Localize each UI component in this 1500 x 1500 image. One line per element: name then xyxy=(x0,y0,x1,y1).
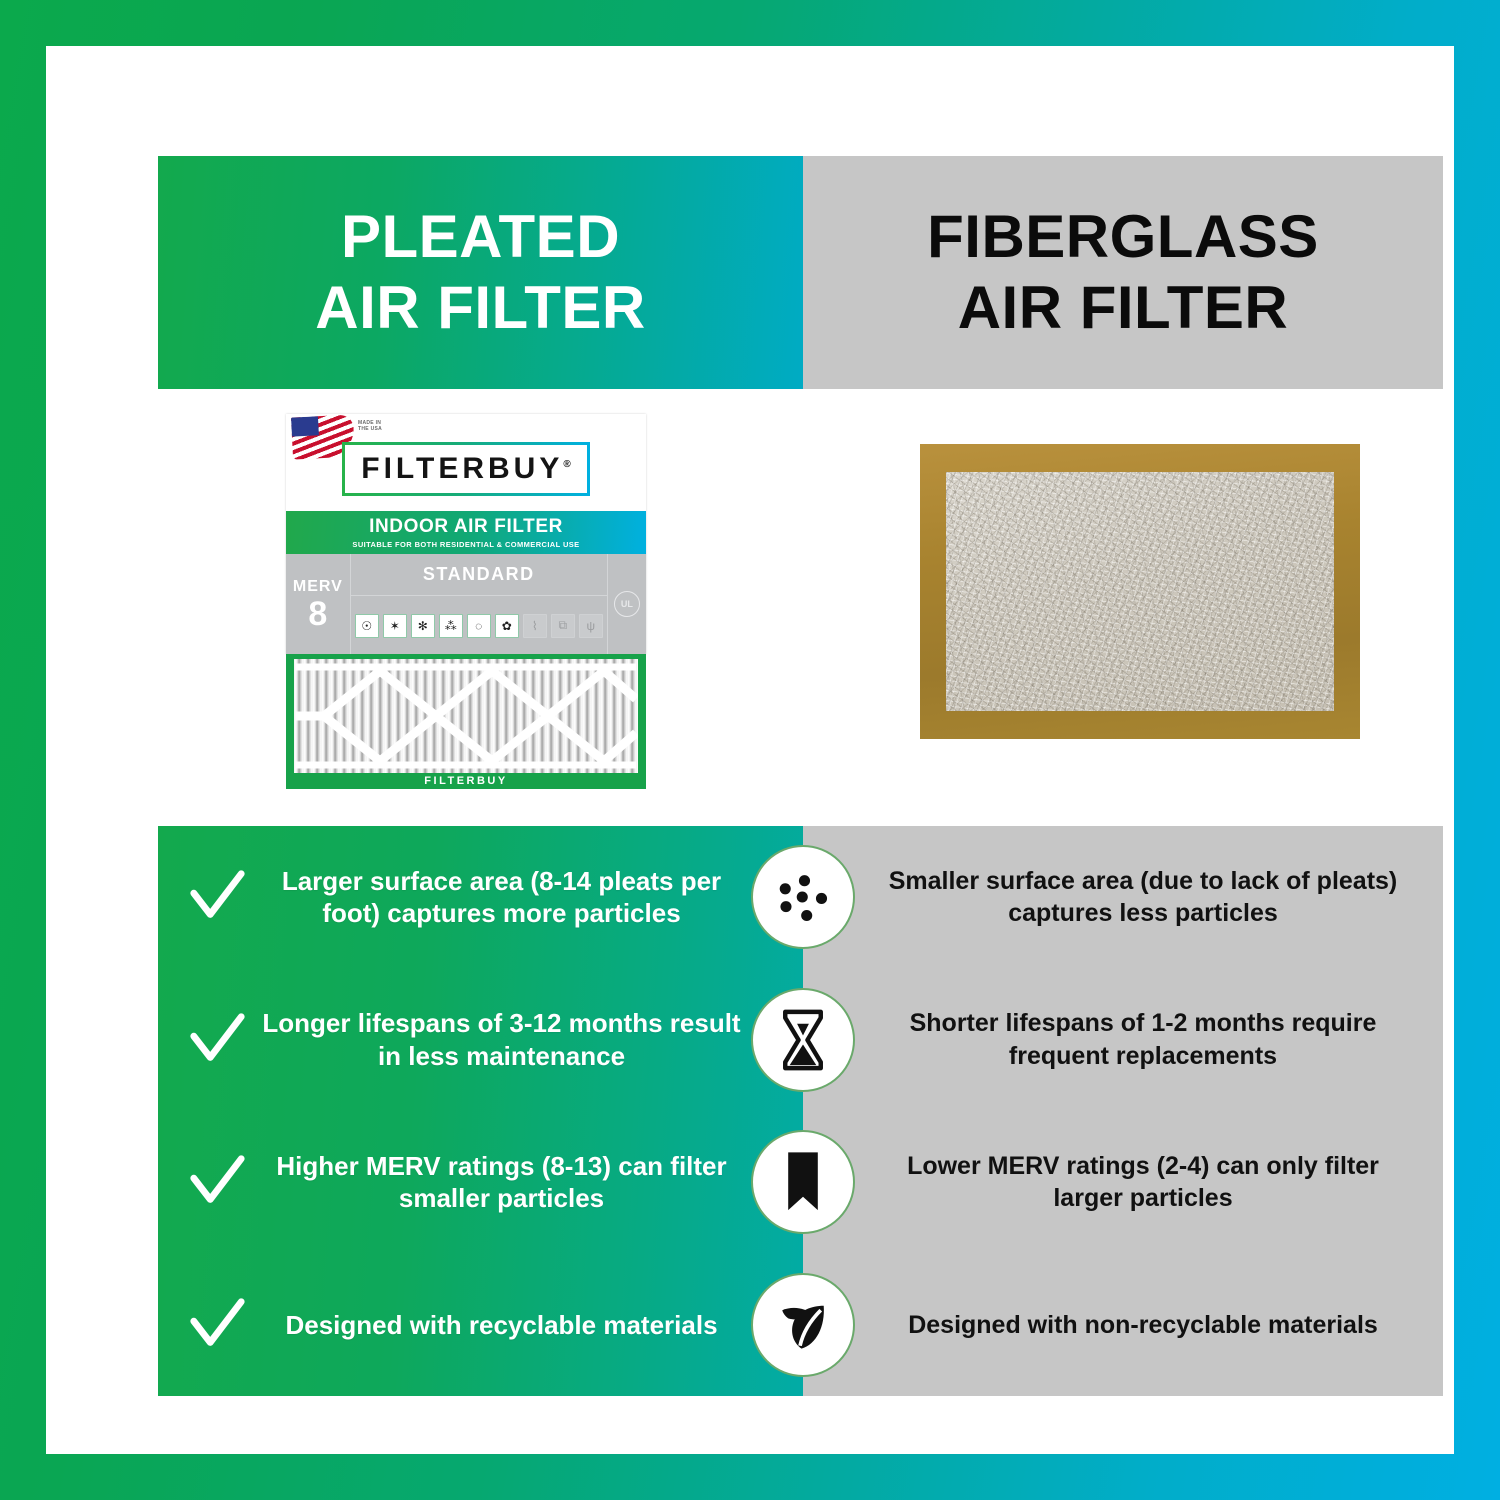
product-images-row: MADE IN THE USA FILTERBUY® INDOOR AIR FI… xyxy=(158,389,1443,826)
mold-icon: ⁂ xyxy=(439,614,463,638)
feature-right-text: Designed with non-recyclable materials xyxy=(803,1309,1443,1342)
pleat-fabric xyxy=(294,659,638,773)
feature-left-text: Longer lifespans of 3-12 months result i… xyxy=(260,1007,743,1072)
box-spec-band: MERV 8 STANDARD ☉✶✻⁂◌✿⌇⧉ψ UL xyxy=(286,554,646,654)
brand-trademark: ® xyxy=(563,459,570,470)
feature-left-text: Larger surface area (8-14 pleats per foo… xyxy=(260,865,743,930)
brand-logo-frame: FILTERBUY® xyxy=(342,442,589,496)
ul-listed-icon: UL xyxy=(614,591,640,617)
dust-icon: ◌ xyxy=(467,614,491,638)
feature-right-text: Lower MERV ratings (2-4) can only filter… xyxy=(803,1150,1443,1215)
feature-badge xyxy=(751,988,855,1092)
fiberglass-mesh-texture xyxy=(946,472,1334,711)
feature-left-cell: Larger surface area (8-14 pleats per foo… xyxy=(158,865,803,930)
bacteria-icon: ⧉ xyxy=(551,614,575,638)
feature-rows: Larger surface area (8-14 pleats per foo… xyxy=(158,826,1443,1396)
capability-icon-row: ☉✶✻⁂◌✿⌇⧉ψ xyxy=(351,596,607,654)
feature-comparison-block: Larger surface area (8-14 pleats per foo… xyxy=(158,826,1443,1396)
box-band-title: INDOOR AIR FILTER xyxy=(369,516,563,538)
poster-inner-canvas: PLEATED AIR FILTER FIBERGLASS AIR FILTER… xyxy=(46,46,1454,1454)
hourglass-icon xyxy=(766,1003,840,1077)
comparison-poster: PLEATED AIR FILTER FIBERGLASS AIR FILTER… xyxy=(0,0,1500,1500)
merv-rating-cell: MERV 8 xyxy=(286,554,351,654)
grade-cell: STANDARD ☉✶✻⁂◌✿⌇⧉ψ xyxy=(351,554,607,654)
dust-mites-icon: ✶ xyxy=(383,614,407,638)
pleated-filter-image: MADE IN THE USA FILTERBUY® INDOOR AIR FI… xyxy=(286,414,646,789)
header-panel-pleated: PLEATED AIR FILTER xyxy=(158,156,803,389)
feature-right-text: Smaller surface area (due to lack of ple… xyxy=(803,865,1443,930)
feature-row: Higher MERV ratings (8-13) can filter sm… xyxy=(158,1111,1443,1254)
feature-row: Designed with recyclable materialsDesign… xyxy=(158,1254,1443,1397)
feature-badge xyxy=(751,1273,855,1377)
feature-left-cell: Designed with recyclable materials xyxy=(158,1294,803,1356)
box-header: MADE IN THE USA FILTERBUY® xyxy=(286,414,646,511)
certification-cell: UL xyxy=(607,554,646,654)
merv-label: MERV xyxy=(293,578,343,596)
media-brand-label: FILTERBUY xyxy=(286,775,646,787)
pleated-media-section: FILTERBUY xyxy=(286,654,646,789)
leaf-icon xyxy=(766,1288,840,1362)
fiberglass-filter-image xyxy=(920,444,1360,739)
filter-box-card: MADE IN THE USA FILTERBUY® INDOOR AIR FI… xyxy=(286,414,646,654)
feature-left-cell: Higher MERV ratings (8-13) can filter sm… xyxy=(158,1150,803,1215)
bookmark-icon xyxy=(766,1145,840,1219)
box-band-subtitle: SUITABLE FOR BOTH RESIDENTIAL & COMMERCI… xyxy=(352,540,579,549)
made-in-usa-label: MADE IN THE USA xyxy=(358,420,382,433)
feature-row: Larger surface area (8-14 pleats per foo… xyxy=(158,826,1443,969)
pollen-icon: ✻ xyxy=(411,614,435,638)
feature-left-cell: Longer lifespans of 3-12 months result i… xyxy=(158,1007,803,1072)
header-band: PLEATED AIR FILTER FIBERGLASS AIR FILTER xyxy=(158,156,1443,389)
feature-left-text: Designed with recyclable materials xyxy=(260,1309,743,1342)
box-product-band: INDOOR AIR FILTER SUITABLE FOR BOTH RESI… xyxy=(286,511,646,554)
header-title-pleated: PLEATED AIR FILTER xyxy=(315,202,646,344)
particles-icon xyxy=(766,860,840,934)
feature-badge xyxy=(751,1130,855,1234)
brand-name: FILTERBUY® xyxy=(361,452,570,486)
header-panel-fiberglass: FIBERGLASS AIR FILTER xyxy=(803,156,1443,389)
check-icon xyxy=(186,1009,248,1071)
merv-value: 8 xyxy=(308,597,327,631)
lint-dust-icon: ☉ xyxy=(355,614,379,638)
check-icon xyxy=(186,866,248,928)
virus-icon: ψ xyxy=(579,614,603,638)
pet-dander-icon: ✿ xyxy=(495,614,519,638)
check-icon xyxy=(186,1151,248,1213)
header-title-fiberglass: FIBERGLASS AIR FILTER xyxy=(927,202,1319,344)
feature-left-text: Higher MERV ratings (8-13) can filter sm… xyxy=(260,1150,743,1215)
grade-label: STANDARD xyxy=(351,554,607,596)
feature-badge xyxy=(751,845,855,949)
smoke-icon: ⌇ xyxy=(523,614,547,638)
feature-row: Longer lifespans of 3-12 months result i… xyxy=(158,969,1443,1112)
pleat-support-grid-icon xyxy=(294,659,638,773)
feature-right-text: Shorter lifespans of 1-2 months require … xyxy=(803,1007,1443,1072)
check-icon xyxy=(186,1294,248,1356)
